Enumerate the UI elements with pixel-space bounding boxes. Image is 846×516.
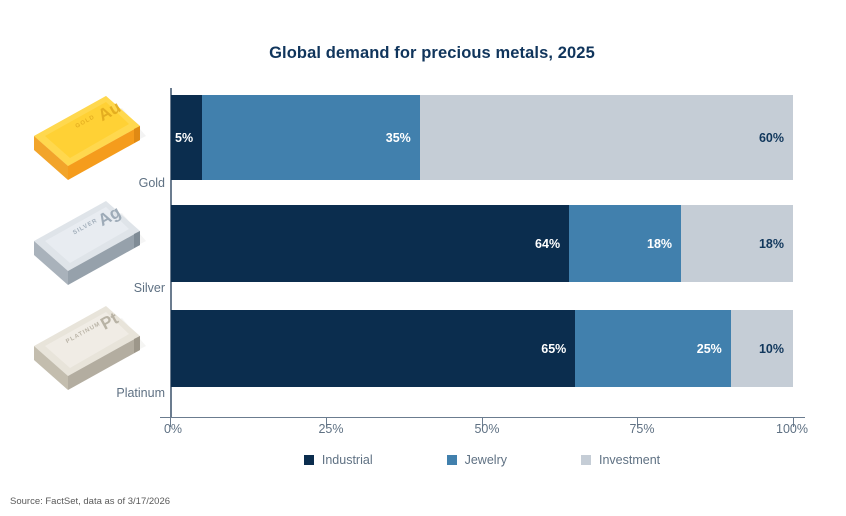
legend-swatch-jewelry — [447, 455, 457, 465]
bar-track: 5% 35% 60% — [171, 95, 793, 180]
bar-row-gold: 5% 35% 60% — [171, 95, 793, 180]
legend-swatch-investment — [581, 455, 591, 465]
silver-ingot-icon: Ag SILVER Silver — [14, 193, 169, 293]
legend-item-investment[interactable]: Investment — [581, 453, 660, 467]
bar-segment-gold-investment[interactable]: 60% — [420, 95, 793, 180]
plot-area: 5% 35% 60% 64% 18% 18% 65% — [171, 95, 793, 415]
bar-value-label: 18% — [647, 237, 672, 251]
silver-ingot-svg: Ag SILVER — [14, 193, 164, 288]
bar-value-label: 65% — [541, 342, 566, 356]
bar-value-label: 25% — [697, 342, 722, 356]
bar-segment-platinum-investment[interactable]: 10% — [731, 310, 793, 387]
row-label-platinum: Platinum — [116, 386, 165, 400]
x-axis-label-0: 0% — [164, 422, 182, 436]
platinum-ingot-icon: Pt PLATINUM Platinum — [14, 298, 169, 398]
bar-track: 65% 25% 10% — [171, 310, 793, 387]
chart-title: Global demand for precious metals, 2025 — [0, 44, 846, 63]
gold-ingot-icon: Au GOLD Gold — [14, 88, 169, 188]
legend-item-jewelry[interactable]: Jewelry — [447, 453, 507, 467]
bar-segment-silver-jewelry[interactable]: 18% — [569, 205, 681, 282]
x-axis-label-75: 75% — [629, 422, 654, 436]
row-label-gold: Gold — [139, 176, 165, 190]
x-axis-label-25: 25% — [318, 422, 343, 436]
x-axis-label-100: 100% — [776, 422, 808, 436]
bar-segment-silver-industrial[interactable]: 64% — [171, 205, 569, 282]
bar-row-silver: 64% 18% 18% — [171, 205, 793, 282]
bar-value-label: 60% — [759, 131, 784, 145]
bar-value-label: 64% — [535, 237, 560, 251]
legend-label: Industrial — [322, 453, 373, 467]
bar-track: 64% 18% 18% — [171, 205, 793, 282]
chart-legend: Industrial Jewelry Investment — [171, 453, 793, 467]
bar-segment-platinum-industrial[interactable]: 65% — [171, 310, 575, 387]
bar-value-label: 18% — [759, 237, 784, 251]
x-axis-label-50: 50% — [474, 422, 499, 436]
bar-segment-silver-investment[interactable]: 18% — [681, 205, 793, 282]
legend-label: Investment — [599, 453, 660, 467]
bar-row-platinum: 65% 25% 10% — [171, 310, 793, 387]
bar-segment-gold-jewelry[interactable]: 35% — [202, 95, 420, 180]
legend-item-industrial[interactable]: Industrial — [304, 453, 373, 467]
bar-segment-gold-industrial[interactable]: 5% — [171, 95, 202, 180]
legend-swatch-industrial — [304, 455, 314, 465]
platinum-ingot-svg: Pt PLATINUM — [14, 298, 164, 393]
bar-segment-platinum-jewelry[interactable]: 25% — [575, 310, 731, 387]
bar-value-label: 35% — [386, 131, 411, 145]
bar-value-label: 5% — [175, 131, 193, 145]
bar-value-label: 10% — [759, 342, 784, 356]
source-note: Source: FactSet, data as of 3/17/2026 — [10, 496, 170, 507]
legend-label: Jewelry — [465, 453, 507, 467]
row-label-silver: Silver — [134, 281, 165, 295]
gold-ingot-svg: Au GOLD — [14, 88, 164, 183]
